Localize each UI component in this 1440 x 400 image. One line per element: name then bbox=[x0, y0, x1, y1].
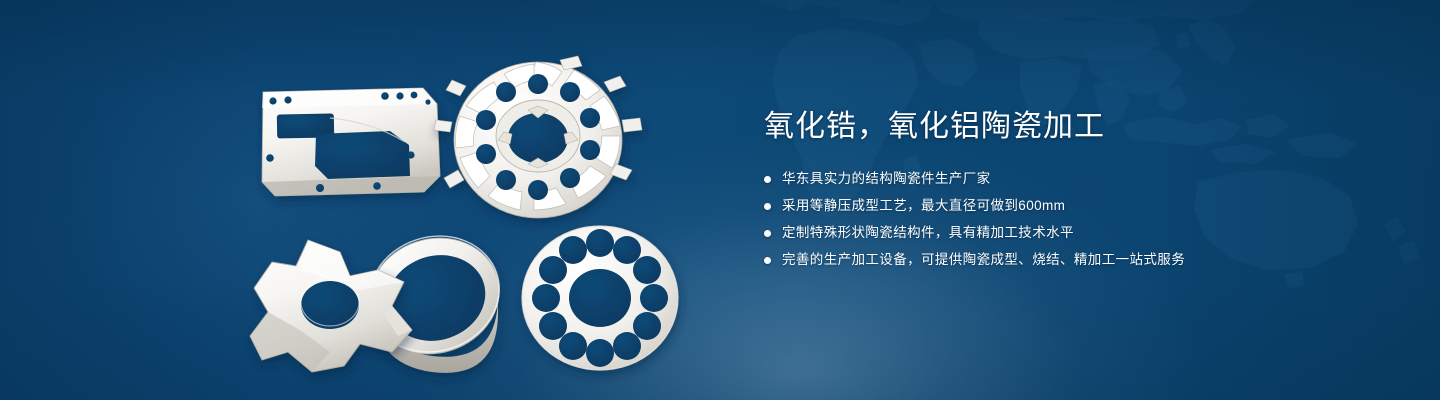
hero-banner: 氧化锆，氧化铝陶瓷加工 华东具实力的结构陶瓷件生产厂家 采用等静压成型工艺，最大… bbox=[0, 0, 1440, 400]
bullet-dot-icon bbox=[764, 203, 771, 210]
product-ceramic-impeller bbox=[434, 56, 642, 218]
list-item: 完善的生产加工设备，可提供陶瓷成型、烧结、精加工一站式服务 bbox=[764, 249, 1364, 271]
list-item: 采用等静压成型工艺，最大直径可做到600mm bbox=[764, 195, 1364, 217]
bullet-text: 完善的生产加工设备，可提供陶瓷成型、烧结、精加工一站式服务 bbox=[782, 249, 1185, 271]
product-perforated-disc bbox=[522, 226, 678, 370]
list-item: 定制特殊形状陶瓷结构件，具有精加工技术水平 bbox=[764, 222, 1364, 244]
feature-bullet-list: 华东具实力的结构陶瓷件生产厂家 采用等静压成型工艺，最大直径可做到600mm 定… bbox=[764, 168, 1364, 271]
product-photo-group bbox=[0, 0, 700, 400]
product-ceramic-plate bbox=[262, 88, 440, 196]
banner-copy: 氧化锆，氧化铝陶瓷加工 华东具实力的结构陶瓷件生产厂家 采用等静压成型工艺，最大… bbox=[764, 108, 1364, 276]
bullet-text: 华东具实力的结构陶瓷件生产厂家 bbox=[782, 168, 991, 190]
list-item: 华东具实力的结构陶瓷件生产厂家 bbox=[764, 168, 1364, 190]
bullet-dot-icon bbox=[764, 257, 771, 264]
bullet-text: 定制特殊形状陶瓷结构件，具有精加工技术水平 bbox=[782, 222, 1074, 244]
bullet-dot-icon bbox=[764, 230, 771, 237]
bullet-text: 采用等静压成型工艺，最大直径可做到600mm bbox=[782, 195, 1065, 217]
bullet-dot-icon bbox=[764, 176, 771, 183]
banner-headline: 氧化锆，氧化铝陶瓷加工 bbox=[764, 108, 1364, 146]
